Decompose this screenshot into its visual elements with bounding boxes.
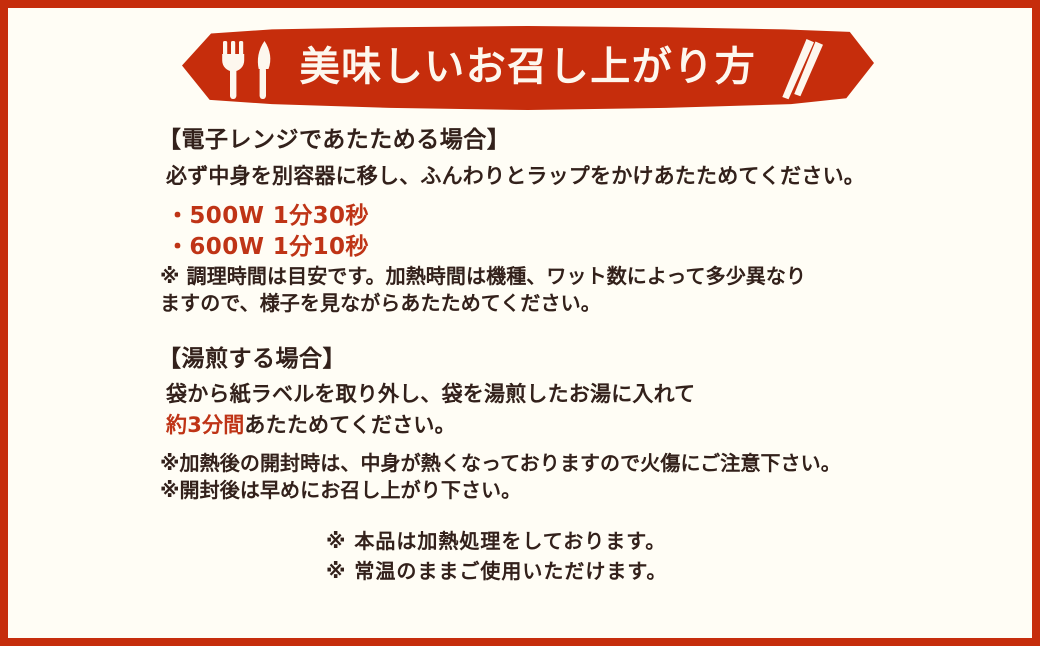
footnote-room-temperature: ※ 常温のままご使用いただけます。 — [326, 556, 1032, 586]
boil-section: 【湯煎する場合】 袋から紙ラベルを取り外し、袋を湯煎したお湯に入れて 約3分間あ… — [8, 345, 1032, 504]
spacer — [8, 442, 1032, 450]
boil-note-line-2: ※開封後は早めにお召し上がり下さい。 — [160, 477, 1032, 504]
microwave-intro: 必ず中身を別容器に移し、ふんわりとラップをかけあたためてください。 — [166, 162, 1032, 191]
microwave-note-line-2: ますので、様子を見ながらあたためてください。 — [160, 290, 1032, 317]
microwave-note-line-1: ※ 調理時間は目安です。加熱時間は機種、ワット数によって多少異なり — [160, 263, 1032, 290]
page-frame: 美味しいお召し上がり方 【電子レンジであたためる場合】 必ず中身を別容器に移し、… — [0, 0, 1040, 646]
page-title: 美味しいお召し上がり方 — [182, 26, 874, 110]
boil-note-line-1: ※加熱後の開封時は、中身が熱くなっておりますので火傷にご注意下さい。 — [160, 450, 1032, 477]
page-inner: 美味しいお召し上がり方 【電子レンジであたためる場合】 必ず中身を別容器に移し、… — [8, 8, 1032, 638]
spacer — [8, 193, 1032, 201]
section-spacer — [8, 317, 1032, 345]
instructions-content: 【電子レンジであたためる場合】 必ず中身を別容器に移し、ふんわりとラップをかけあ… — [8, 126, 1032, 586]
boil-duration-accent: 約3分間 — [166, 413, 244, 437]
microwave-bullet-500w: ・500W 1分30秒 — [166, 201, 1032, 231]
footnotes: ※ 本品は加熱処理をしております。 ※ 常温のままご使用いただけます。 — [8, 526, 1032, 586]
boil-line-1: 袋から紙ラベルを取り外し、袋を湯煎したお湯に入れて — [166, 380, 1032, 409]
boil-line-2: 約3分間あたためてください。 — [166, 411, 1032, 440]
boil-heading: 【湯煎する場合】 — [158, 345, 1032, 374]
title-banner: 美味しいお召し上がり方 — [182, 26, 874, 110]
boil-line-2-rest: あたためてください。 — [244, 413, 455, 437]
microwave-heading: 【電子レンジであたためる場合】 — [158, 126, 1032, 155]
microwave-bullet-600w: ・600W 1分10秒 — [166, 232, 1032, 262]
footnote-heat-treated: ※ 本品は加熱処理をしております。 — [326, 526, 1032, 556]
footnotes-spacer — [8, 504, 1032, 526]
microwave-section: 【電子レンジであたためる場合】 必ず中身を別容器に移し、ふんわりとラップをかけあ… — [8, 126, 1032, 317]
